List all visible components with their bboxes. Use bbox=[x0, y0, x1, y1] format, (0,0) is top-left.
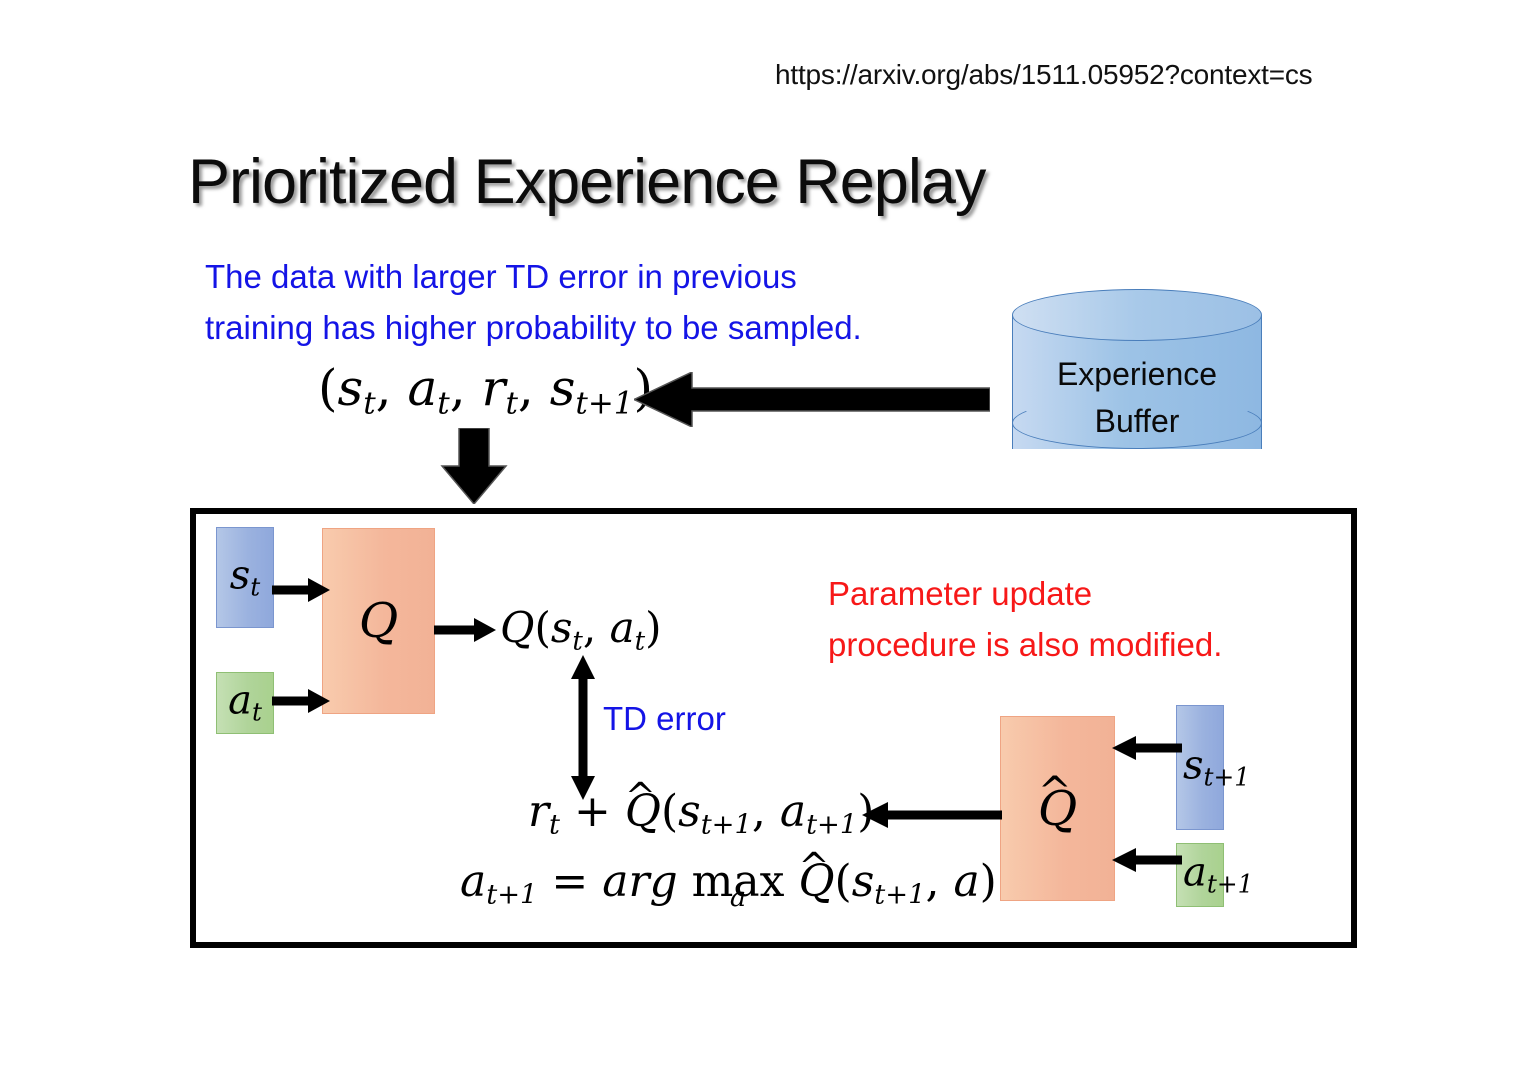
q-network-box: Q bbox=[322, 528, 435, 714]
next-state-box: st+1 bbox=[1176, 705, 1224, 830]
q-hat-network-label: ^Q bbox=[1001, 785, 1114, 833]
next-state-to-q-hat-arrow bbox=[1112, 733, 1182, 763]
next-state-box-label: st+1 bbox=[1183, 745, 1250, 790]
cylinder-top-ellipse bbox=[1012, 289, 1262, 341]
state-box-label: st bbox=[217, 555, 273, 600]
transition-tuple: (st, at, rt, st+1) bbox=[318, 363, 653, 420]
tuple-action: a bbox=[407, 359, 437, 417]
q-output-formula: Q(st, at) bbox=[500, 607, 661, 654]
tuple-action-sub: t bbox=[437, 386, 449, 422]
action-to-q-arrow bbox=[272, 686, 330, 716]
tuple-state-sub: t bbox=[363, 386, 375, 422]
state-box: st bbox=[216, 527, 274, 628]
state-to-q-arrow bbox=[272, 575, 330, 605]
argmax-formula: at+1 = arg maxa ^Q(st+1, a) bbox=[460, 860, 997, 909]
next-action-box-label: at+1 bbox=[1183, 853, 1253, 898]
page-title: Prioritized Experience Replay bbox=[188, 146, 985, 218]
next-action-box: at+1 bbox=[1176, 843, 1224, 907]
tuple-comma-2: , bbox=[450, 359, 482, 417]
q-to-output-arrow bbox=[434, 615, 496, 645]
action-box: at bbox=[216, 672, 274, 734]
tuple-state: s bbox=[338, 359, 364, 417]
source-url: https://arxiv.org/abs/1511.05952?context… bbox=[775, 59, 1312, 91]
buffer-to-tuple-block-arrow bbox=[634, 372, 990, 427]
experience-buffer-label: Experience Buffer bbox=[1012, 351, 1262, 445]
caption-text: The data with larger TD error in previou… bbox=[205, 251, 862, 353]
q-hat-network-box: ^Q bbox=[1000, 716, 1115, 901]
tuple-reward-sub: t bbox=[505, 386, 517, 422]
q-network-label: Q bbox=[323, 597, 434, 645]
q-hat-to-target-arrow bbox=[862, 800, 1002, 830]
td-target-formula: rt + ^Q(st+1, at+1) bbox=[528, 790, 874, 839]
tuple-comma-3: , bbox=[518, 359, 550, 417]
tuple-reward: r bbox=[482, 359, 506, 417]
tuple-comma-1: , bbox=[376, 359, 408, 417]
slide-canvas: https://arxiv.org/abs/1511.05952?context… bbox=[0, 0, 1524, 1080]
td-error-label: TD error bbox=[603, 700, 726, 738]
tuple-next-state: s bbox=[550, 359, 576, 417]
q-output-q: Q bbox=[500, 603, 534, 652]
action-box-label: at bbox=[217, 681, 273, 726]
tuple-to-panel-block-arrow bbox=[438, 428, 510, 504]
td-error-double-arrow bbox=[568, 655, 598, 800]
tuple-open-paren: ( bbox=[318, 359, 338, 417]
tuple-next-state-sub: t+1 bbox=[575, 386, 633, 422]
experience-buffer-cylinder: Experience Buffer bbox=[1012, 289, 1264, 475]
parameter-update-note: Parameter update procedure is also modif… bbox=[828, 568, 1222, 670]
next-action-to-q-hat-arrow bbox=[1112, 845, 1182, 875]
